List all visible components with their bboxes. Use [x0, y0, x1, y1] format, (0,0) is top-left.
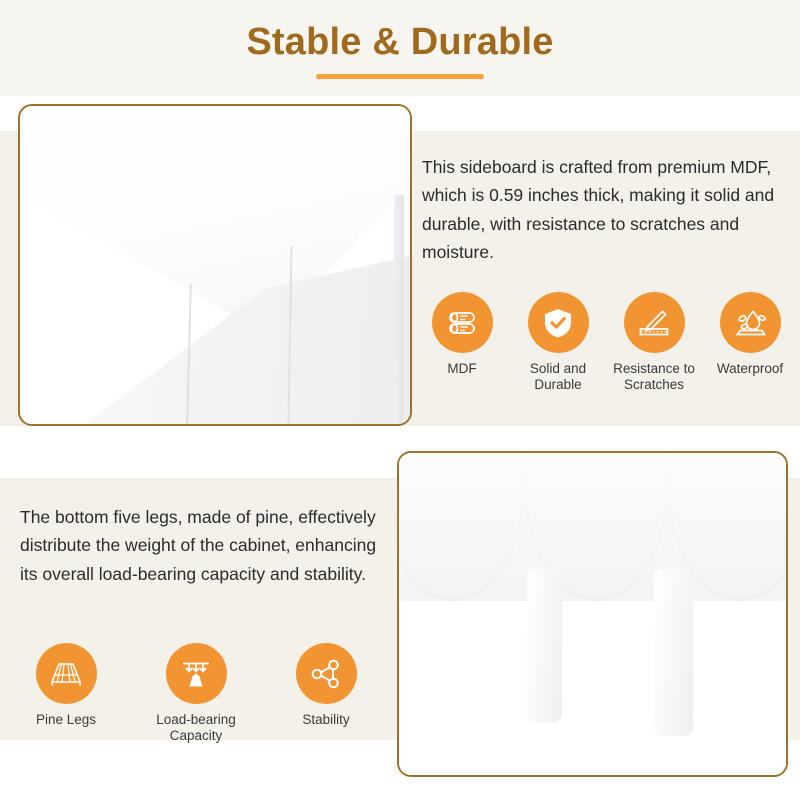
- cabinet-side-edge: [394, 195, 404, 426]
- feature-stability: Stability: [278, 643, 374, 728]
- header: Stable & Durable: [0, 0, 800, 96]
- feature-label: Solid and Durable: [530, 361, 586, 393]
- feature-solid-durable: Solid and Durable: [516, 292, 600, 393]
- feature-label: Stability: [302, 712, 349, 728]
- feature-label: Resistance to Scratches: [613, 361, 695, 393]
- material-paragraph: This sideboard is crafted from premium M…: [422, 153, 777, 266]
- wood-planks-icon: [36, 643, 97, 704]
- infographic-page: Stable & Durable This sideboard is craft…: [0, 0, 800, 800]
- feature-load-bearing: Load-bearing Capacity: [148, 643, 244, 744]
- cabinet-legs-illustration: [399, 453, 786, 775]
- feature-label: Load-bearing Capacity: [156, 712, 236, 744]
- shield-check-icon: [528, 292, 589, 353]
- cabinet-leg: [527, 569, 562, 724]
- sideboard-corner-photo: [18, 104, 412, 426]
- water-drop-icon: [720, 292, 781, 353]
- stacked-logs-icon: [432, 292, 493, 353]
- feature-label: MDF: [447, 361, 476, 377]
- feature-label: Pine Legs: [36, 712, 96, 728]
- scratch-board-icon: [624, 292, 685, 353]
- feature-pine-legs: Pine Legs: [18, 643, 114, 728]
- load-weight-icon: [166, 643, 227, 704]
- feature-label: Waterproof: [717, 361, 783, 377]
- legs-paragraph: The bottom five legs, made of pine, effe…: [20, 503, 390, 588]
- feature-mdf: MDF: [420, 292, 504, 377]
- feature-waterproof: Waterproof: [708, 292, 792, 377]
- material-feature-row: MDF Solid and Durable Resistance to: [420, 292, 792, 393]
- legs-feature-row: Pine Legs Load-bearing Capaci: [18, 643, 378, 744]
- page-title: Stable & Durable: [246, 17, 553, 61]
- cabinet-corner-illustration: [20, 106, 410, 424]
- cabinet-legs-photo: [397, 451, 788, 777]
- title-underline: [316, 74, 484, 79]
- node-network-icon: [296, 643, 357, 704]
- cabinet-leg: [654, 569, 693, 736]
- feature-scratch-resistance: Resistance to Scratches: [612, 292, 696, 393]
